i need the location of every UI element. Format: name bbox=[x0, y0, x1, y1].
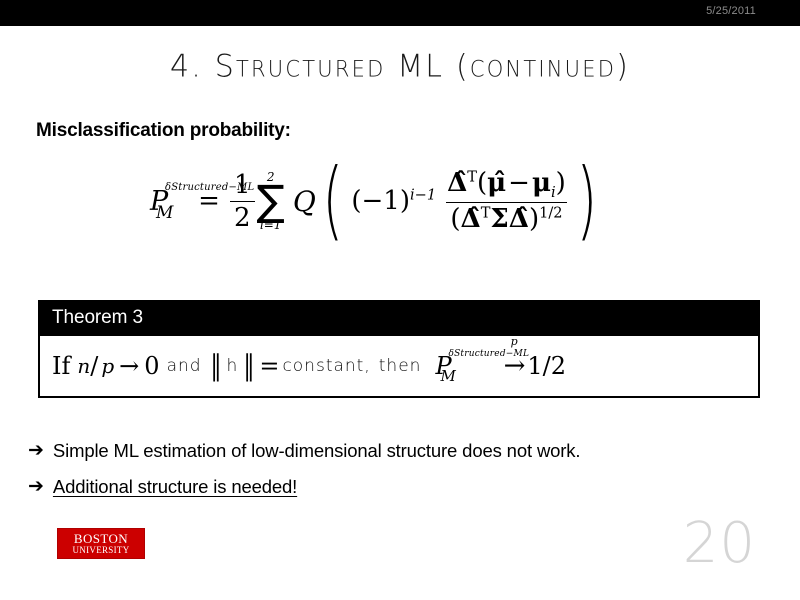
theorem-norm-variable: h bbox=[227, 356, 239, 376]
denominator-close-paren: ) bbox=[529, 204, 539, 234]
numerator-minus: − bbox=[508, 168, 530, 198]
theorem-constant: constant, bbox=[282, 356, 370, 376]
page-number: 20 bbox=[683, 516, 756, 572]
conclusion-bullets: ➔ Simple ML estimation of low-dimensiona… bbox=[28, 440, 768, 512]
sign-factor: (−1)i−1 bbox=[351, 186, 436, 216]
numerator-mu-hat: μ̂ bbox=[487, 168, 506, 198]
one-half-denominator: 2 bbox=[230, 201, 255, 233]
numerator-transpose: T bbox=[467, 168, 477, 185]
summation-operator: 2 ∑ i=1 bbox=[257, 171, 285, 231]
arrow-bullet-icon: ➔ bbox=[28, 440, 44, 462]
theorem-convergence-mode: p bbox=[511, 335, 518, 348]
theorem-then: then bbox=[379, 356, 422, 376]
list-item: ➔ Simple ML estimation of low-dimensiona… bbox=[28, 440, 768, 462]
misclassification-probability-equation: P δStructured−ML M = 1 2 2 ∑ i=1 Q ( (−1… bbox=[150, 168, 603, 234]
equation-close-paren: ) bbox=[576, 175, 597, 227]
numerator-open-paren: ( bbox=[477, 168, 487, 198]
numerator-close-paren: ) bbox=[556, 168, 566, 198]
theorem-body: If n / p → 0 and ‖ h ‖ = constant, then … bbox=[40, 336, 758, 396]
bullet-text-2: Additional structure is needed! bbox=[53, 476, 297, 497]
equation-lhs-symbol: P δStructured−ML M bbox=[150, 186, 168, 217]
section-heading: Misclassification probability: bbox=[36, 120, 291, 142]
theorem-if: If bbox=[52, 352, 70, 380]
summation-sigma-icon: ∑ bbox=[257, 183, 285, 219]
equation-open-paren: ( bbox=[322, 175, 343, 227]
logo-line-2: UNIVERSITY bbox=[73, 546, 130, 555]
arrow-bullet-icon: ➔ bbox=[28, 476, 44, 498]
equation-lhs-subscript: M bbox=[156, 203, 173, 223]
theorem-zero: 0 bbox=[144, 352, 159, 380]
numerator-mu-i: μ bbox=[532, 168, 551, 198]
summation-lower-limit: i=1 bbox=[260, 219, 282, 231]
sign-base: (−1) bbox=[351, 186, 410, 216]
denominator-transpose: T bbox=[481, 205, 491, 222]
theorem-p-symbol: P δStructured−ML M bbox=[435, 352, 451, 380]
theorem-arrow-glyph: → bbox=[504, 351, 526, 381]
slide-date: 5/25/2011 bbox=[706, 5, 756, 17]
top-black-bar bbox=[0, 0, 800, 26]
sign-exponent: i−1 bbox=[410, 186, 436, 203]
fraction-denominator: (Δ̂TΣΔ̂)1/2 bbox=[446, 202, 566, 234]
equation-lhs-superscript: δStructured−ML bbox=[165, 182, 254, 193]
slide: 5/25/2011 4. Structured ML (continued) M… bbox=[0, 0, 800, 600]
denominator-delta-hat-2: Δ̂ bbox=[509, 204, 529, 234]
theorem-box: Theorem 3 If n / p → 0 and ‖ h ‖ = const… bbox=[38, 300, 760, 398]
theorem-arrow: → bbox=[119, 352, 139, 380]
theorem-limit: 1/2 bbox=[527, 352, 566, 380]
equation-one-half: 1 2 bbox=[230, 170, 255, 233]
list-item: ➔ Additional structure is needed! bbox=[28, 476, 768, 498]
q-function: Q bbox=[293, 185, 316, 218]
theorem-slash: / bbox=[90, 352, 98, 380]
theorem-n: n bbox=[77, 354, 90, 378]
bullet-text-1: Simple ML estimation of low-dimensional … bbox=[53, 440, 580, 461]
logo-line-1: BOSTON bbox=[74, 532, 128, 545]
slide-title: 4. Structured ML (continued) bbox=[0, 48, 800, 85]
theorem-header: Theorem 3 bbox=[40, 302, 758, 336]
theorem-convergence-arrow: p → bbox=[504, 351, 526, 381]
equation-lhs-sup-label: Structured−ML bbox=[171, 182, 254, 193]
denominator-sigma: Σ bbox=[490, 204, 508, 234]
denominator-open-paren: ( bbox=[450, 204, 460, 234]
denominator-exponent: 1/2 bbox=[539, 205, 562, 222]
numerator-delta-hat: Δ̂ bbox=[447, 168, 467, 198]
theorem-equals: = bbox=[259, 352, 279, 380]
boston-university-logo: BOSTON UNIVERSITY bbox=[57, 528, 145, 559]
equation-main-fraction: Δ̂T(μ̂−μi) (Δ̂TΣΔ̂)1/2 bbox=[443, 168, 570, 234]
theorem-p-subscript: M bbox=[440, 367, 455, 385]
theorem-p: p bbox=[101, 354, 114, 378]
theorem-and: and bbox=[167, 356, 202, 376]
fraction-numerator: Δ̂T(μ̂−μi) bbox=[443, 168, 570, 202]
denominator-delta-hat-1: Δ̂ bbox=[461, 204, 481, 234]
